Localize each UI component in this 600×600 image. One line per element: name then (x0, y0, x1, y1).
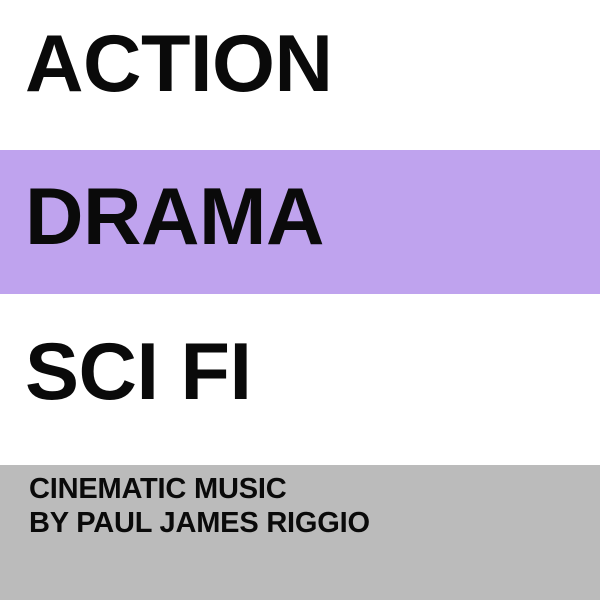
album-cover: ACTION DRAMA SCI FI CINEMATIC MUSIC BY P… (0, 0, 600, 600)
credits-text: CINEMATIC MUSIC BY PAUL JAMES RIGGIO (29, 472, 370, 540)
credits-line-artist: BY PAUL JAMES RIGGIO (29, 506, 370, 540)
credits-line-title: CINEMATIC MUSIC (29, 472, 370, 506)
genre-label-action: ACTION (25, 24, 332, 105)
genre-label-drama: DRAMA (25, 177, 324, 258)
genre-label-scifi: SCI FI (25, 332, 252, 413)
